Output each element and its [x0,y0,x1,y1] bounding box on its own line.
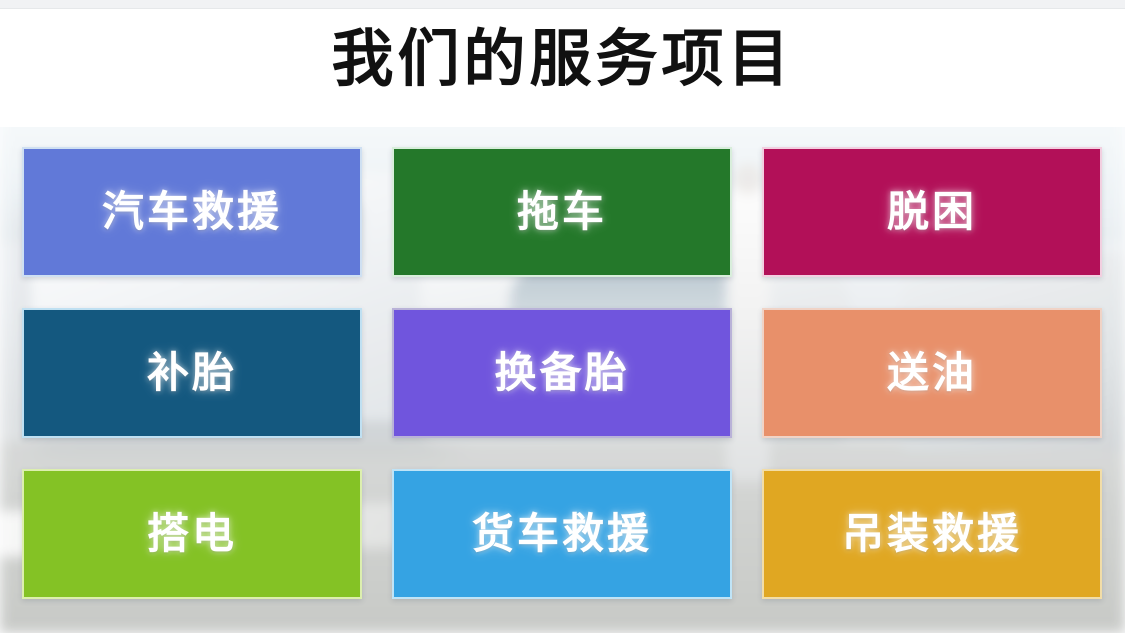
service-tile-label: 拖车 [517,189,607,235]
service-tile-label: 脱困 [887,189,977,235]
service-tile-4[interactable]: 换备胎 [392,308,732,438]
service-tile-label: 送油 [887,350,977,396]
service-tile-label: 吊装救援 [842,511,1022,557]
service-list-slide: 我们的服务项目 汽车救援 拖车 脱困 补胎 换备胎 送油 搭电 货车救援 吊装救… [0,0,1125,633]
service-grid: 汽车救援 拖车 脱困 补胎 换备胎 送油 搭电 货车救援 吊装救援 [22,147,1102,600]
service-tile-0[interactable]: 汽车救援 [22,147,362,277]
service-tile-label: 换备胎 [494,350,629,396]
service-tile-2[interactable]: 脱困 [762,147,1102,277]
service-tile-label: 汽车救援 [102,189,282,235]
service-tile-1[interactable]: 拖车 [392,147,732,277]
service-tile-label: 货车救援 [472,511,652,557]
service-tile-5[interactable]: 送油 [762,308,1102,438]
service-tile-label: 补胎 [147,350,237,396]
service-tile-8[interactable]: 吊装救援 [762,469,1102,599]
service-tile-7[interactable]: 货车救援 [392,469,732,599]
service-tile-6[interactable]: 搭电 [22,469,362,599]
page-title: 我们的服务项目 [0,24,1125,96]
service-tile-3[interactable]: 补胎 [22,308,362,438]
service-tile-label: 搭电 [147,511,237,557]
